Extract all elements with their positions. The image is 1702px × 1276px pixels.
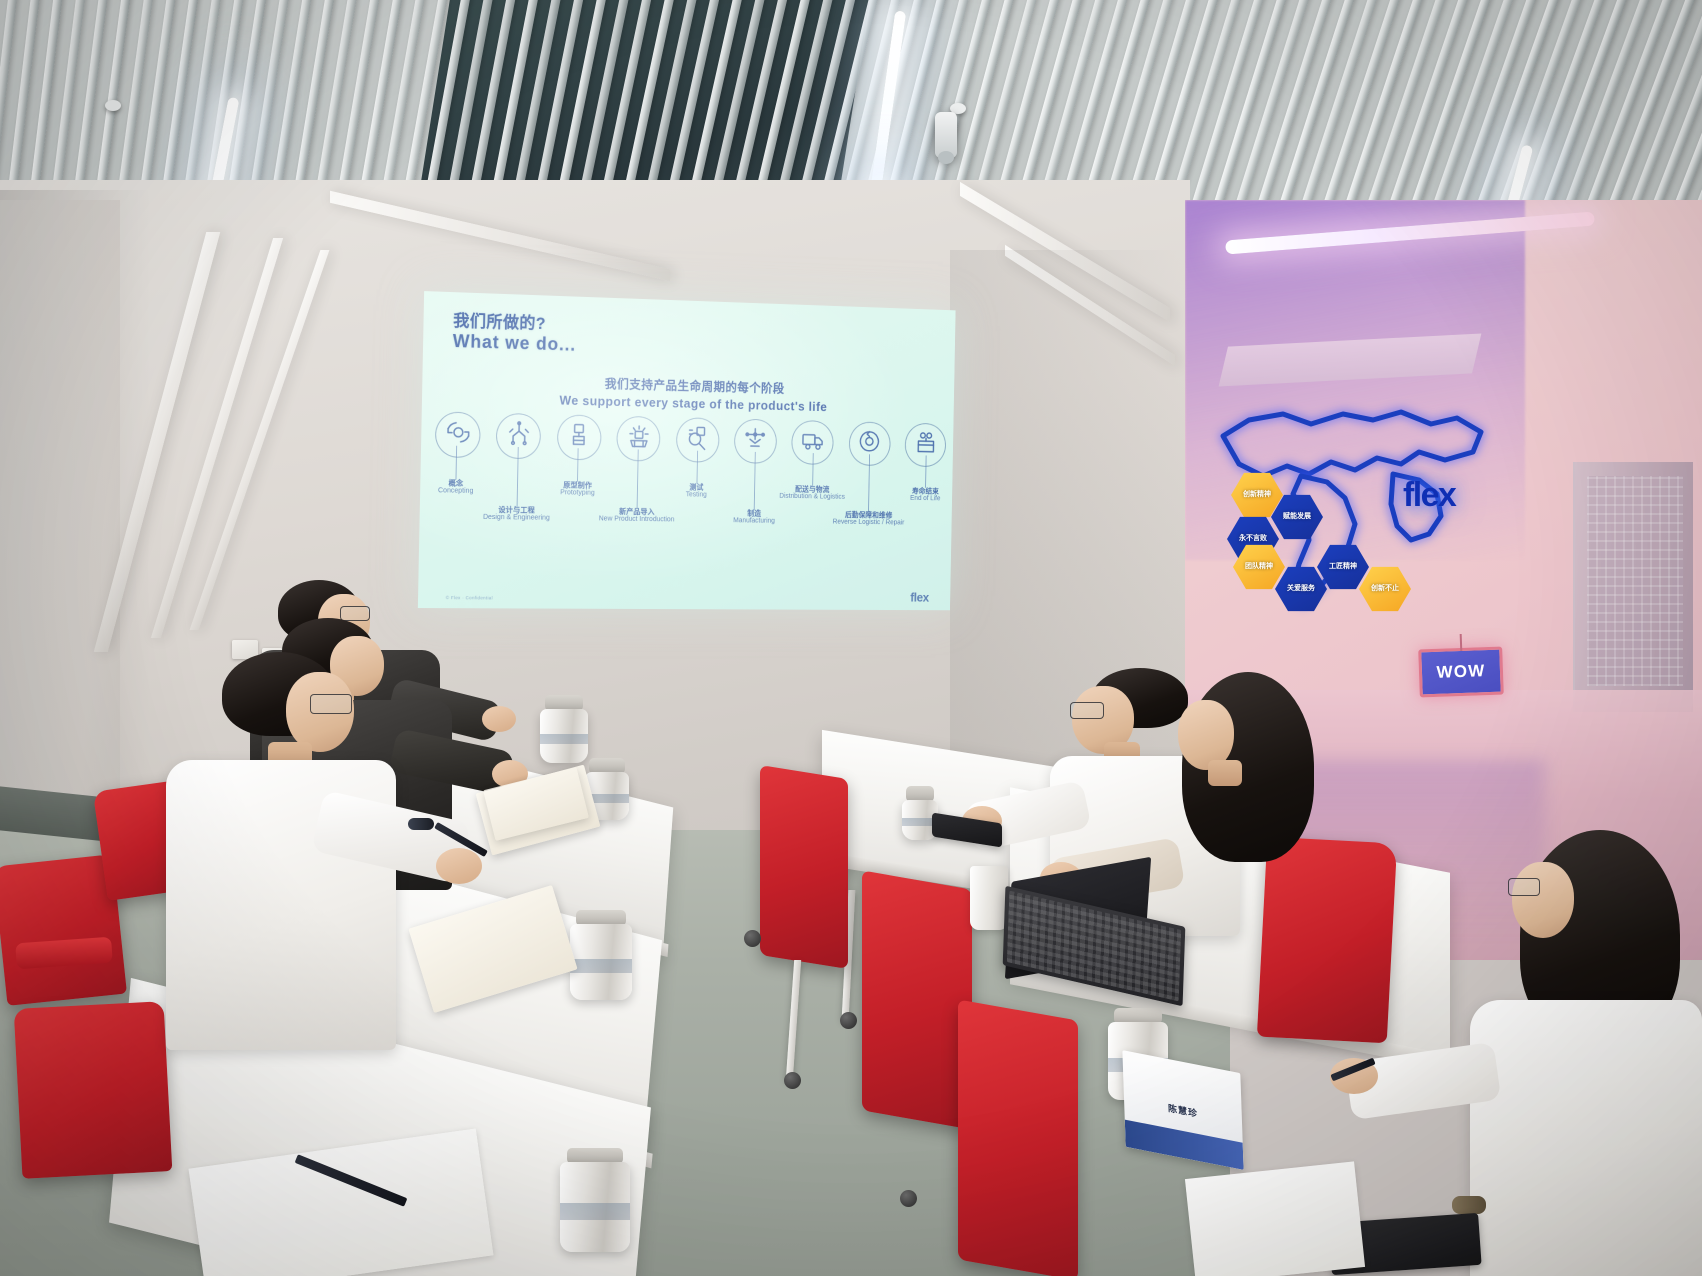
perforated-panel [1587,476,1683,686]
stage-label-0: 概念Concepting [418,479,498,497]
tumbler-3-band [570,959,632,973]
person-front-left-watch [408,818,434,830]
stage-icon-3 [616,416,660,462]
stage-icon-0 [435,411,481,458]
tumbler-4[interactable] [560,1148,630,1252]
person-front-left-glasses [310,694,352,714]
stage-stem-7 [868,454,870,511]
name-placard-text: 陈慧珍 [1168,1101,1198,1120]
tumbler-1-body [540,709,588,763]
tumbler-4-band [560,1203,630,1219]
stage-label-en-0: Concepting [418,487,498,496]
stage-label-en-1: Design & Engineering [474,514,558,523]
value-hexagon-label-0: 创新精神 [1243,491,1271,498]
person-right-mid-torso [1140,790,1340,1050]
value-hexagon-label-1: 赋能发展 [1283,513,1311,520]
stage-stem-5 [754,452,756,510]
prototype-3d-print-icon [566,421,593,453]
ceiling-speaker [935,112,957,158]
wall-flex-logo: flex [1403,476,1455,515]
slide-footer-text: © Flex · Confidential [446,595,493,600]
stage-label-7: 后勤保障和维修Reverse Logistic / Repair [830,511,908,528]
value-hexagon-label-6: 创新不止 [1371,585,1399,592]
stage-label-1: 设计与工程Design & Engineering [474,506,558,523]
table-caster-r1 [840,1012,857,1029]
circuit-design-icon [505,420,532,452]
stage-label-en-8: End of Life [887,495,956,504]
stage-icon-1 [496,413,542,460]
value-hexagon-label-3: 团队精神 [1245,563,1273,570]
stage-label-6: 配送与物流Distribution & Logistics [773,485,852,502]
person-right-front-glasses [1508,878,1540,896]
lifecycle-stage-labels: 概念Concepting设计与工程Design & Engineering原型制… [419,467,952,543]
chair-red-5[interactable] [862,870,972,1129]
presentation-slide: 我们所做的? What we do... 我们支持产品生命周期的每个阶段 We … [418,291,956,610]
person-front-left-hand [436,848,482,884]
stage-label-4: 测试Testing [656,483,737,500]
slide-heading: 我们所做的? What we do... [453,311,577,357]
person-right-front-face [1512,862,1574,938]
stage-label-en-3: New Product Introduction [596,516,678,525]
stage-label-en-7: Reverse Logistic / Repair [830,519,908,528]
glass-cup[interactable] [970,866,1008,930]
person-back-left-hand [482,706,516,732]
tumbler-3[interactable] [570,910,632,1000]
chair-red-4[interactable] [760,765,848,969]
tumbler-1-band [540,734,588,744]
stage-label-en-2: Prototyping [536,489,619,498]
stage-label-5: 制造Manufacturing [714,509,794,526]
stage-label-en-5: Manufacturing [714,517,794,526]
tumbler-3-body [570,924,632,1000]
chair-caster-1 [784,1072,801,1089]
tumbler-4-body [560,1162,630,1252]
stage-label-2: 原型制作Prototyping [536,481,619,498]
person-right-front-torso [1470,1000,1702,1276]
ceiling-sprinkler-1 [105,100,121,111]
wow-sign: WOW [1418,647,1504,698]
slide-flex-logo: flex [910,590,929,604]
person-right-front-watch [1452,1196,1486,1214]
stage-label-8: 寿命结束End of Life [887,487,956,504]
stage-label-en-4: Testing [656,491,737,500]
stage-stem-3 [637,449,639,508]
stage-stem-1 [516,447,518,506]
value-hexagon-label-2: 永不言败 [1239,535,1267,542]
chair-red-6[interactable] [958,999,1078,1276]
chair-caster-3 [744,930,761,947]
tumbler-1[interactable] [540,695,588,763]
stage-label-en-6: Distribution & Logistics [773,493,852,502]
stage-label-3: 新产品导入New Product Introduction [596,508,678,525]
paper-sheet-right[interactable] [1185,1161,1365,1276]
wall-shading [0,190,150,890]
chair-caster-2 [900,1190,917,1207]
projection-screen: 我们所做的? What we do... 我们支持产品生命周期的每个阶段 We … [418,291,956,610]
concept-hands-icon [444,419,471,451]
person-back-left-glasses [340,606,370,621]
slide-heading-en: What we do... [453,331,577,357]
person-right-back-glasses [1070,702,1104,719]
value-hexagon-label-4: 关爱服务 [1287,585,1315,592]
chair-red-2[interactable] [14,1001,173,1179]
value-hexagon-label-5: 工匠精神 [1329,563,1357,570]
person-right-mid-neck [1208,760,1242,786]
stage-icon-2 [557,414,602,460]
meeting-room-photo: 我们所做的? What we do... 我们支持产品生命周期的每个阶段 We … [0,0,1702,1276]
value-hexagons: 创新精神赋能发展永不言败团队精神关爱服务工匠精神创新不止 [1231,472,1381,582]
slide-subtitle: 我们支持产品生命周期的每个阶段 We support every stage o… [422,369,954,417]
